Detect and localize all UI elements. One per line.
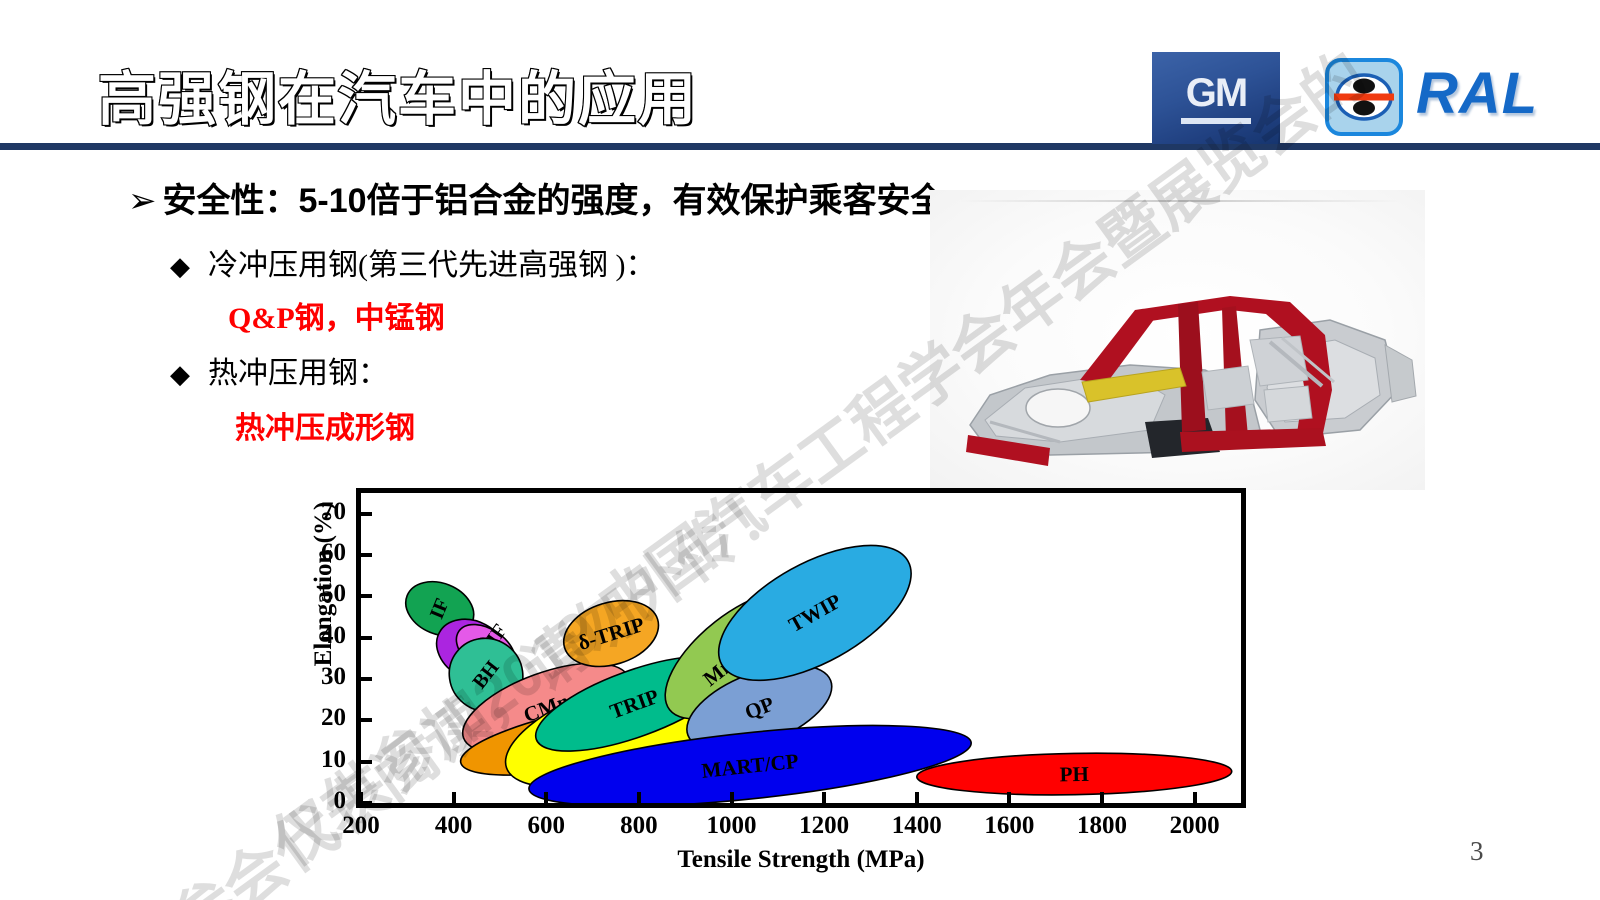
ral-logo: RAL bbox=[1320, 54, 1590, 142]
x-tick-mark-600 bbox=[544, 792, 548, 803]
slide-canvas: 高强钢在汽车中的应用 GM RAL ➢安全性：5-10倍于铝合金的强度，有效保护… bbox=[0, 0, 1600, 900]
y-tick-mark-70 bbox=[361, 512, 372, 516]
bullet-item-2-text: 热冲压用钢： bbox=[208, 357, 388, 390]
banana-diagram-chart: Elongation (%) IFMildHSSIFISBHCMnDPTRIPδ… bbox=[280, 478, 1290, 888]
x-tick-label-1200: 1200 bbox=[779, 812, 869, 840]
y-tick-mark-40 bbox=[361, 636, 372, 640]
x-tick-label-200: 200 bbox=[316, 812, 406, 840]
header-divider bbox=[0, 143, 1600, 150]
arrow-bullet-icon: ➢ bbox=[128, 182, 157, 220]
chart-ellipse-ph: PH bbox=[916, 751, 1232, 798]
bullet-item-3: 热冲压成形钢 bbox=[235, 403, 415, 447]
x-tick-label-2000: 2000 bbox=[1150, 812, 1240, 840]
diamond-bullet-icon-2: ◆ bbox=[170, 360, 190, 389]
y-tick-label-50: 50 bbox=[286, 580, 346, 608]
x-tick-mark-200 bbox=[359, 792, 363, 803]
bullet-item-1-text: Q&P钢，中锰钢 bbox=[228, 302, 445, 335]
bullet-item-1: Q&P钢，中锰钢 bbox=[228, 293, 445, 337]
bullet-item-3-text: 热冲压成形钢 bbox=[235, 412, 415, 445]
y-tick-mark-20 bbox=[361, 718, 372, 722]
x-tick-label-400: 400 bbox=[409, 812, 499, 840]
x-tick-label-1000: 1000 bbox=[687, 812, 777, 840]
x-tick-mark-1800 bbox=[1100, 792, 1104, 803]
ellipse-label: PH bbox=[1059, 762, 1089, 787]
y-tick-label-0: 0 bbox=[286, 787, 346, 815]
chart-x-axis-label: Tensile Strength (MPa) bbox=[356, 846, 1246, 874]
x-tick-label-1400: 1400 bbox=[872, 812, 962, 840]
rolling-mill-icon-svg bbox=[1329, 62, 1399, 132]
x-tick-mark-1200 bbox=[822, 792, 826, 803]
y-tick-label-40: 40 bbox=[286, 622, 346, 650]
bullet-level1: ➢安全性：5-10倍于铝合金的强度，有效保护乘客安全 bbox=[128, 173, 945, 222]
bullet-item-2: ◆热冲压用钢： bbox=[170, 348, 388, 392]
chart-plot-area: IFMildHSSIFISBHCMnDPTRIPδ-TRIPMn-TRIPQPT… bbox=[356, 488, 1246, 808]
photo-top-edge bbox=[960, 200, 1400, 202]
gm-logo-underline bbox=[1181, 118, 1251, 124]
y-tick-label-20: 20 bbox=[286, 704, 346, 732]
y-tick-mark-30 bbox=[361, 677, 372, 681]
x-tick-mark-400 bbox=[452, 792, 456, 803]
bullet-item-0: ◆冷冲压用钢(第三代先进高强钢 )： bbox=[170, 240, 655, 284]
x-tick-label-800: 800 bbox=[594, 812, 684, 840]
y-tick-label-60: 60 bbox=[286, 539, 346, 567]
x-tick-mark-1600 bbox=[1007, 792, 1011, 803]
bullet-item-0-text: 冷冲压用钢(第三代先进高强钢 )： bbox=[208, 249, 655, 282]
diamond-bullet-icon: ◆ bbox=[170, 252, 190, 281]
chart-series-layer: IFMildHSSIFISBHCMnDPTRIPδ-TRIPMn-TRIPQPT… bbox=[361, 493, 1241, 803]
page-title: 高强钢在汽车中的应用 bbox=[98, 52, 698, 136]
bullet-level1-text: 安全性：5-10倍于铝合金的强度，有效保护乘客安全 bbox=[163, 182, 945, 220]
y-tick-label-70: 70 bbox=[286, 498, 346, 526]
x-tick-mark-1000 bbox=[730, 792, 734, 803]
page-number: 3 bbox=[1470, 836, 1484, 867]
rolling-mill-icon bbox=[1325, 58, 1403, 136]
x-tick-mark-2000 bbox=[1193, 792, 1197, 803]
x-tick-label-1600: 1600 bbox=[964, 812, 1054, 840]
x-tick-mark-1400 bbox=[915, 792, 919, 803]
ral-logo-label: RAL bbox=[1416, 60, 1538, 127]
x-tick-label-600: 600 bbox=[501, 812, 591, 840]
car-body-image bbox=[930, 190, 1425, 490]
car-body-svg bbox=[930, 190, 1425, 490]
y-tick-mark-50 bbox=[361, 594, 372, 598]
y-tick-label-10: 10 bbox=[286, 746, 346, 774]
gm-logo-label: GM bbox=[1186, 73, 1246, 113]
y-tick-mark-10 bbox=[361, 760, 372, 764]
y-tick-label-30: 30 bbox=[286, 663, 346, 691]
x-tick-label-1800: 1800 bbox=[1057, 812, 1147, 840]
x-tick-mark-800 bbox=[637, 792, 641, 803]
y-tick-mark-60 bbox=[361, 553, 372, 557]
gm-logo: GM bbox=[1152, 52, 1280, 144]
